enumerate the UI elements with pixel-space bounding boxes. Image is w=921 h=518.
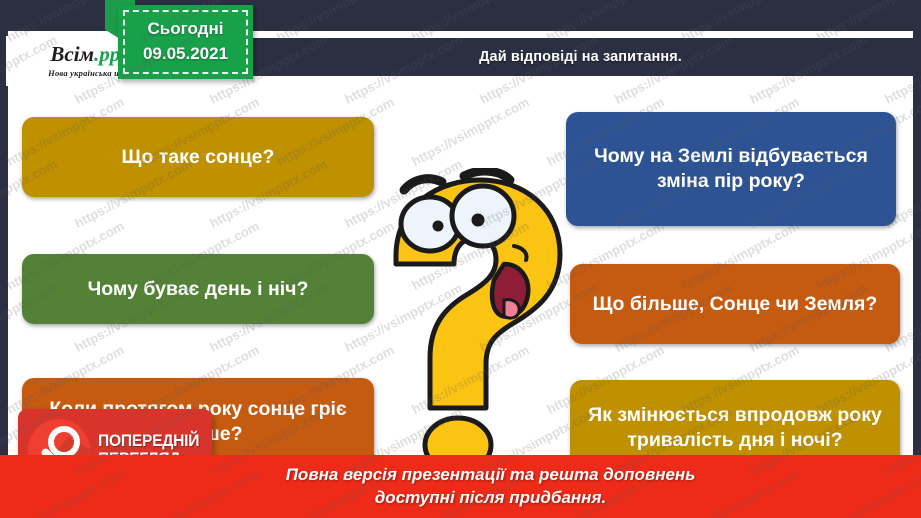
question-text: Що таке сонце? — [122, 145, 275, 170]
date-badge: Сьогодні 09.05.2021 — [118, 5, 253, 79]
question-text: Як змінюється впродовж року тривалість д… — [582, 403, 888, 452]
question-box[interactable]: Чому буває день і ніч? — [22, 254, 374, 324]
question-box[interactable]: Чому на Землі відбувається зміна пір рок… — [566, 112, 896, 226]
page-title: Дай відповіді на запитання. — [479, 49, 682, 65]
question-text: Що більше, Сонце чи Земля? — [593, 292, 878, 317]
presentation-slide: Дай відповіді на запитання. Вcім.pptx Но… — [0, 0, 921, 518]
question-box[interactable]: Що більше, Сонце чи Земля? — [570, 264, 900, 344]
question-text: Чому на Землі відбувається зміна пір рок… — [578, 144, 884, 193]
purchase-notice-line2: доступні після придбання. — [375, 487, 606, 509]
question-box[interactable]: Що таке сонце? — [22, 117, 374, 197]
purchase-notice-line1: Повна версія презентації та решта доповн… — [286, 464, 696, 486]
logo-name-primary: Вcім — [50, 42, 94, 66]
purchase-notice-banner: Повна версія презентації та решта доповн… — [0, 455, 921, 518]
cartoon-question-mark-icon — [368, 168, 573, 468]
date-badge-value: 09.05.2021 — [143, 42, 228, 67]
preview-badge-line1: ПОПЕРЕДНІЙ — [98, 432, 199, 450]
date-badge-label: Сьогодні — [148, 17, 224, 42]
question-text: Чому буває день і ніч? — [88, 277, 309, 302]
slide-title-bar: Дай відповіді на запитання. — [248, 38, 913, 76]
